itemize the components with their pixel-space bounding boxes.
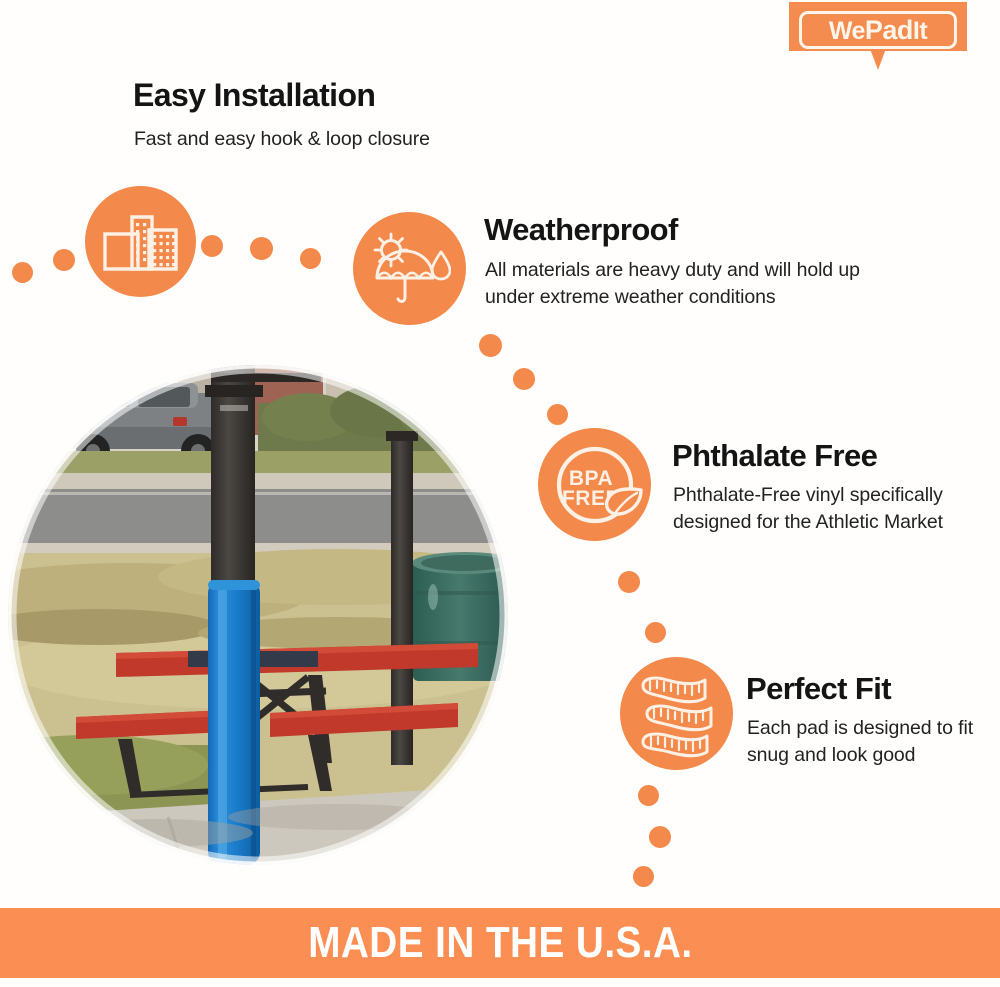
infographic-page: WePadIt Easy Installation Fast and easy … — [0, 0, 1000, 987]
feature-title-weatherproof: Weatherproof — [484, 214, 678, 247]
trail-dot — [513, 368, 535, 390]
trail-dot — [638, 785, 659, 806]
trail-dot — [250, 237, 273, 260]
feature-body-perfect-fit: Each pad is designed to fit snug and loo… — [747, 715, 977, 769]
trail-dot — [479, 334, 502, 357]
trail-dot — [618, 571, 640, 593]
feature-body-easy-installation: Fast and easy hook & loop closure — [134, 126, 554, 153]
feature-body-phthalate-free: Phthalate-Free vinyl specifically design… — [673, 482, 943, 536]
trail-dot — [645, 622, 666, 643]
building-icon — [85, 186, 196, 297]
made-in-usa-banner: MADE IN THE U.S.A. — [0, 908, 1000, 978]
feature-body-weatherproof: All materials are heavy duty and will ho… — [485, 257, 905, 311]
feature-title-perfect-fit: Perfect Fit — [746, 673, 891, 706]
trail-dot — [649, 826, 671, 848]
umbrella-sun-rain-icon — [353, 212, 466, 325]
trail-dot — [201, 235, 223, 257]
brand-logo-we: We — [829, 17, 865, 45]
feature-title-phthalate-free: Phthalate Free — [672, 440, 877, 473]
brand-logo: WePadIt — [799, 11, 957, 49]
brand-logo-text: WePadIt — [829, 17, 927, 44]
trail-dot — [547, 404, 568, 425]
bpa-free-leaf-icon: BPA FREE — [538, 428, 651, 541]
trail-dot — [300, 248, 321, 269]
trail-dot — [12, 262, 33, 283]
measuring-tape-icon — [620, 657, 733, 770]
brand-logo-pad: Pad — [865, 15, 913, 45]
trail-dot — [53, 249, 75, 271]
feature-title-easy-installation: Easy Installation — [133, 79, 375, 113]
trail-dot — [633, 866, 654, 887]
product-photo-pole-pad — [8, 365, 508, 865]
made-in-usa-text: MADE IN THE U.S.A. — [308, 918, 692, 968]
brand-logo-it: It — [913, 17, 927, 45]
